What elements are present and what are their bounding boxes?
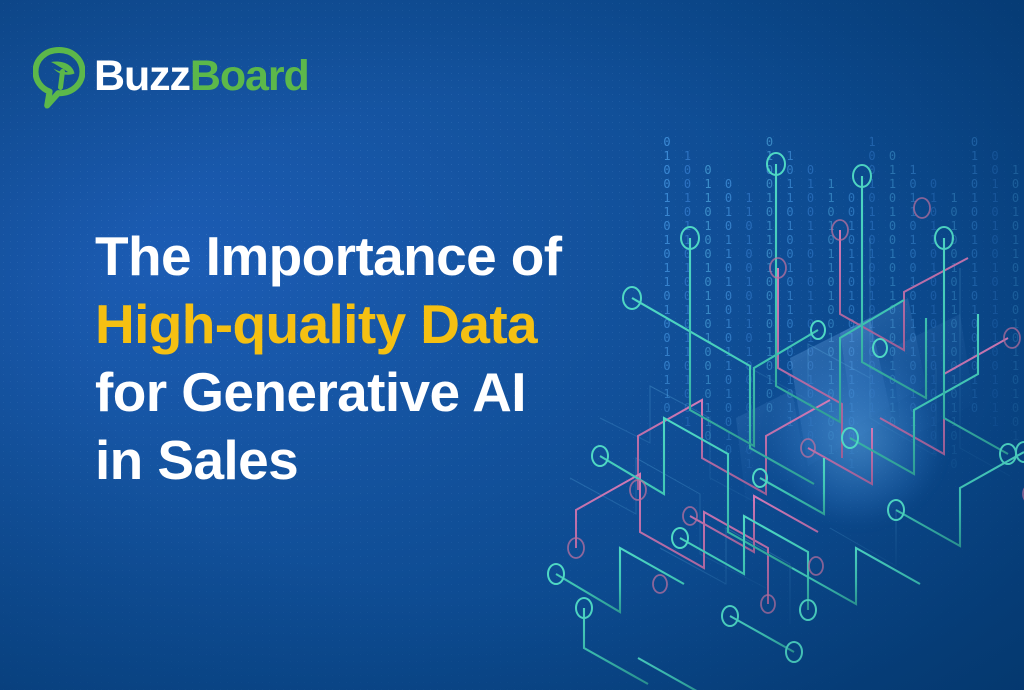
headline-line-3: for Generative AI [95, 358, 615, 426]
buzzboard-logo[interactable]: BuzzBoard [33, 47, 309, 109]
banner-root: 0100110101101001011010010110100101101001… [0, 0, 1024, 690]
headline-line-1: The Importance of [95, 222, 615, 290]
headline-line-4: in Sales [95, 426, 615, 494]
page-title: The Importance of High-quality Data for … [95, 222, 615, 494]
headline-line-2: High-quality Data [95, 290, 615, 358]
logo-word-buzz: Buzz [94, 52, 190, 100]
logo-word-board: Board [190, 52, 309, 100]
buzzboard-speech-bubble-icon [33, 47, 85, 109]
logo-wordmark: BuzzBoard [94, 55, 309, 102]
